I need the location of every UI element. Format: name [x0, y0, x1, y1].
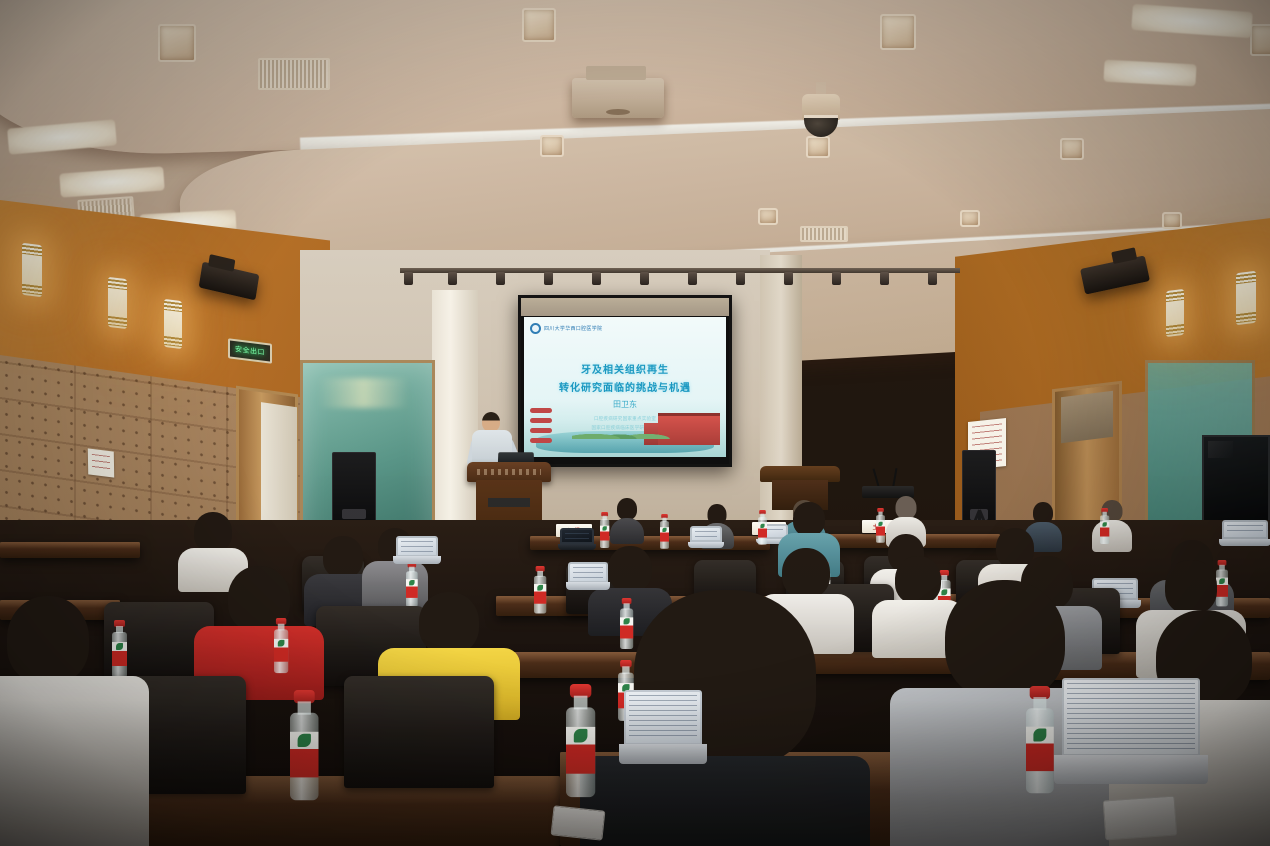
wall-tv — [1202, 435, 1270, 525]
downlight — [880, 14, 916, 50]
downlight — [1162, 212, 1182, 229]
track-light-head — [544, 272, 553, 285]
slide-campus-artwork — [524, 399, 726, 457]
downlight — [158, 24, 196, 62]
projection-screen: 四川大学华西口腔医学院 牙及相关组织再生 转化研究面临的挑战与机遇 田卫东 口腔… — [518, 295, 732, 467]
wall-sconce — [22, 243, 42, 297]
downlight — [1250, 24, 1270, 56]
downlight — [540, 135, 564, 157]
track-light-head — [496, 272, 505, 285]
wall-sconce — [108, 277, 127, 329]
track-light-head — [928, 272, 937, 285]
ceiling-panel-light — [59, 166, 164, 197]
macbook[interactable] — [1062, 678, 1200, 784]
speaker-cabinet — [332, 452, 376, 526]
downlight — [806, 136, 830, 158]
laptop[interactable] — [690, 526, 722, 548]
track-light-head — [880, 272, 889, 285]
slide-title-line-1: 牙及相关组织再生 — [524, 361, 726, 376]
microphone-table — [862, 470, 914, 498]
laptop[interactable] — [568, 562, 608, 590]
track-light-head — [832, 272, 841, 285]
track-light-head — [688, 272, 697, 285]
air-vent — [258, 58, 330, 90]
laptop[interactable] — [624, 690, 702, 764]
smartphone[interactable] — [551, 805, 606, 840]
downlight — [522, 8, 556, 42]
slide-title-line-2: 转化研究面临的挑战与机遇 — [524, 379, 726, 394]
track-light-rail — [400, 268, 960, 273]
desk-row-far — [0, 542, 140, 558]
downlight — [1060, 138, 1084, 160]
exit-sign-label: 安全出口 — [235, 344, 265, 358]
chair[interactable] — [344, 676, 494, 788]
audience-member — [610, 498, 644, 542]
audience-member — [1092, 500, 1132, 550]
audience-member-foreground — [0, 596, 160, 846]
podium-engraving — [477, 469, 541, 475]
slide-logo-text: 四川大学华西口腔医学院 — [544, 325, 602, 332]
podium-control-plate — [488, 498, 530, 507]
track-light-head — [640, 272, 649, 285]
presenter-head — [482, 412, 500, 432]
wall-sconce — [164, 299, 182, 349]
screen-top-bar — [521, 298, 729, 316]
conference-hall-photo: 安全出口 四川大学华西口腔医学院 牙及相关组织再生 转化研究面临的挑战与机遇 — [0, 0, 1270, 846]
downlight — [758, 208, 778, 225]
artwork-pagoda — [530, 405, 552, 443]
presentation-slide: 四川大学华西口腔医学院 牙及相关组织再生 转化研究面临的挑战与机遇 田卫东 口腔… — [524, 317, 726, 457]
air-vent — [800, 226, 848, 242]
wall-notice-left — [88, 448, 114, 477]
slide-logo: 四川大学华西口腔医学院 — [530, 322, 616, 334]
university-logo-icon — [530, 323, 541, 334]
laptop[interactable] — [396, 536, 438, 564]
security-camera-icon — [800, 82, 842, 138]
artwork-trees — [572, 423, 677, 439]
track-light-head — [592, 272, 601, 285]
ceiling-panel-light — [1103, 60, 1196, 87]
podium-top — [467, 462, 551, 482]
track-light-head — [404, 272, 413, 285]
smartphone[interactable] — [1103, 796, 1178, 841]
wall-sconce — [1236, 271, 1256, 325]
wall-sconce — [1166, 289, 1184, 337]
track-light-head — [448, 272, 457, 285]
track-light-head — [784, 272, 793, 285]
downlight — [960, 210, 980, 227]
track-light-head — [736, 272, 745, 285]
projector-icon — [572, 78, 664, 118]
